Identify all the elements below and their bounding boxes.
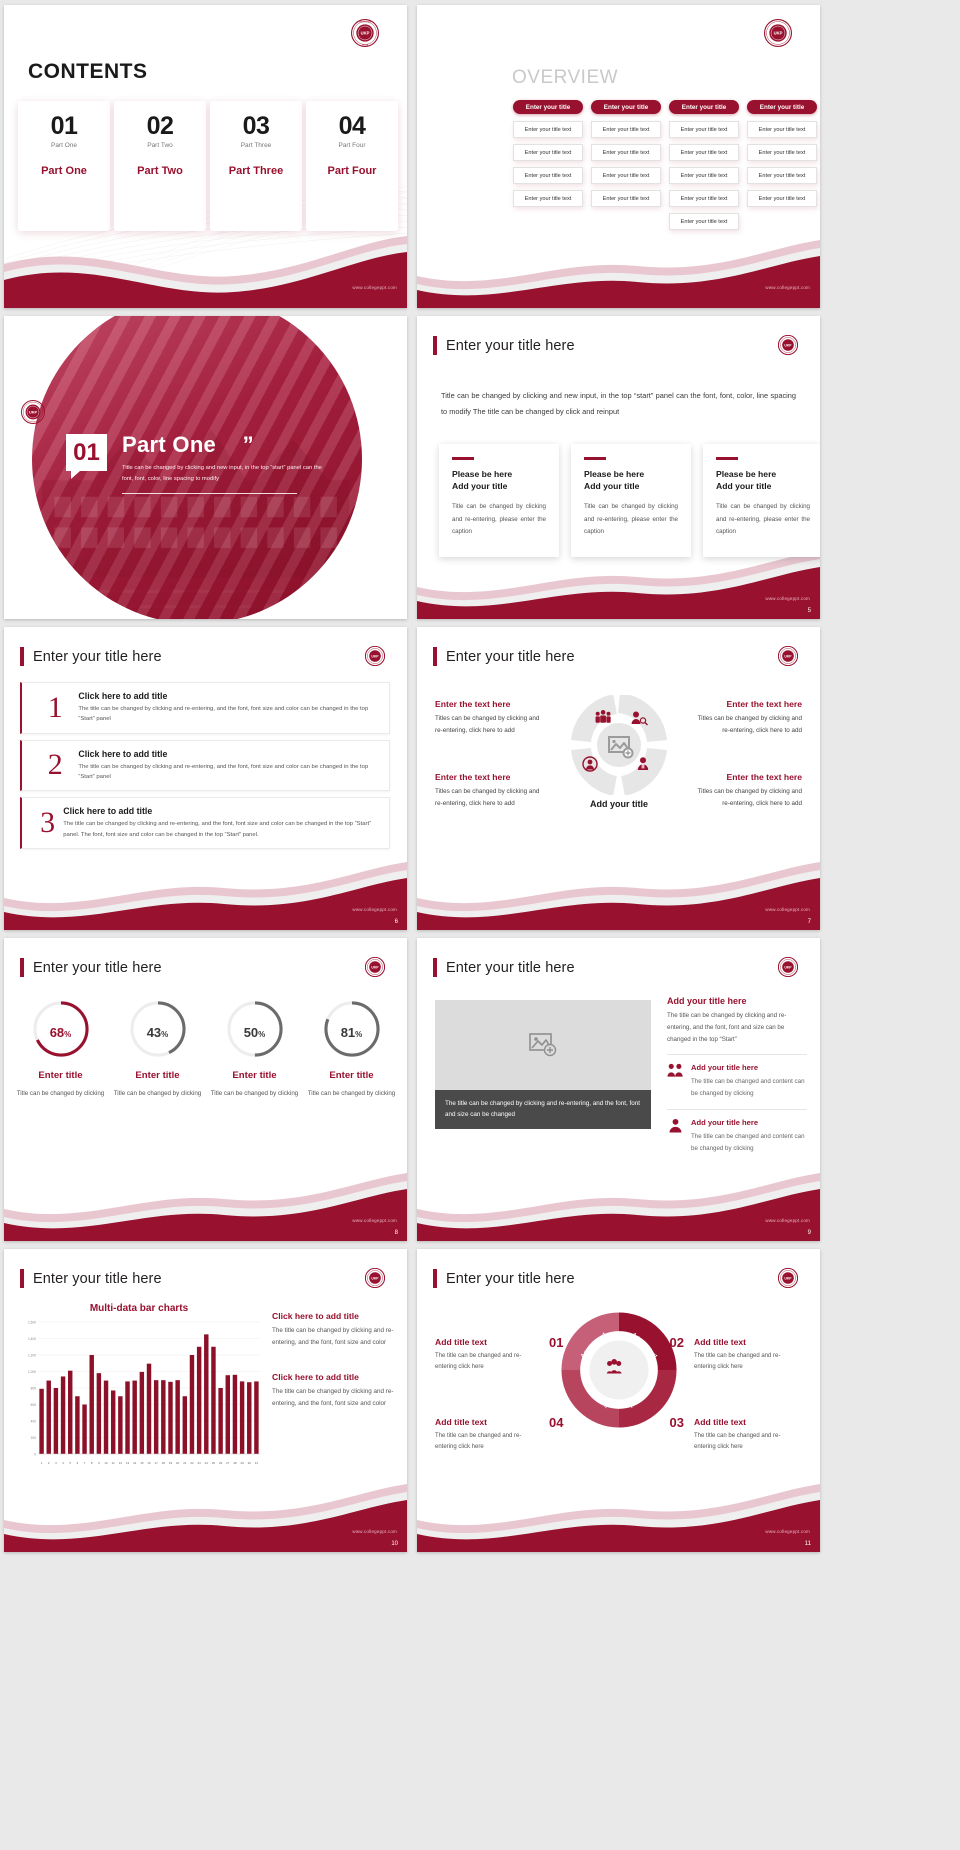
- gauge-desc: Title can be changed by clicking: [12, 1088, 109, 1099]
- card-title-line1: Please be here: [716, 468, 810, 480]
- overview-item[interactable]: Enter your title text: [513, 144, 583, 161]
- logo-seal-icon: UKP UNIVERSITAS PETRA: [351, 19, 379, 47]
- right-column: Add your title here The title can be cha…: [667, 996, 807, 1154]
- people-icon: [667, 1063, 684, 1100]
- svg-text:1,200: 1,200: [28, 1354, 36, 1358]
- text-block-2: Click here to add title The title can be…: [272, 1372, 398, 1411]
- slide-overview[interactable]: UKP OVERVIEW Enter your title Enter your…: [417, 5, 820, 308]
- slide-three-cards[interactable]: Enter your title here UKP Title can be c…: [417, 316, 820, 619]
- page-title: Enter your title here: [446, 960, 575, 976]
- section-number: 01: [66, 434, 107, 471]
- svg-text:UKP: UKP: [784, 343, 792, 347]
- svg-text:6: 6: [77, 1461, 79, 1465]
- gauge-unit: %: [161, 1030, 168, 1039]
- gauge-desc: Title can be changed by clicking: [109, 1088, 206, 1099]
- item-number: 1: [32, 693, 78, 723]
- card-title-line2: Add your title: [584, 480, 678, 492]
- bottom-wave-decoration: [417, 547, 820, 619]
- overview-item[interactable]: Enter your title text: [591, 190, 661, 207]
- svg-text:0: 0: [34, 1453, 36, 1457]
- lead-paragraph: Title can be changed by clicking and new…: [441, 388, 796, 420]
- contents-card[interactable]: 04 Part Four Part Four: [306, 101, 398, 231]
- item-title: Click here to add title: [78, 749, 379, 759]
- bar-chart-svg: 02004006008001,0001,2001,4001,6001234567…: [14, 1318, 264, 1468]
- cycle-body: The title can be changed and re-entering…: [694, 1431, 802, 1453]
- page-title: Enter your title here: [33, 960, 162, 976]
- slide-image-and-list[interactable]: Enter your title here UKP The title can …: [417, 938, 820, 1241]
- svg-text:UKP: UKP: [371, 965, 379, 969]
- contents-card[interactable]: 03 Part Three Part Three: [210, 101, 302, 231]
- page-title-bar: Enter your title here: [433, 647, 575, 666]
- svg-text:20: 20: [176, 1461, 180, 1465]
- info-card[interactable]: Please be here Add your title Title can …: [571, 444, 691, 557]
- page-number: 4: [395, 608, 398, 614]
- overview-item[interactable]: Enter your title text: [669, 121, 739, 138]
- page-title: Enter your title here: [33, 1271, 162, 1287]
- cycle-number-02: 02: [670, 1335, 684, 1350]
- page-number: 7: [808, 919, 811, 925]
- gauge-value: 50: [244, 1025, 258, 1040]
- contents-card[interactable]: 02 Part Two Part Two: [114, 101, 206, 231]
- item-body: The title can be changed by clicking and…: [78, 762, 379, 783]
- cycle-title: Add title text: [694, 1417, 802, 1427]
- card-number: 01: [18, 114, 110, 139]
- svg-text:UKP: UKP: [774, 30, 783, 35]
- overview-column: Enter your title Enter your title text E…: [591, 100, 661, 236]
- card-body: Title can be changed by clicking and re-…: [584, 501, 678, 537]
- quadrant-title: Enter the text here: [435, 772, 547, 782]
- card-dash: [584, 457, 606, 460]
- footer-url: www.collegeppt.com: [352, 285, 397, 290]
- card-subtitle: Part Four: [306, 142, 398, 149]
- quadrant-body: Titles can be changed by clicking and re…: [690, 713, 802, 736]
- page-number: 11: [805, 1541, 811, 1547]
- overview-column: Enter your title Enter your title text E…: [513, 100, 583, 236]
- title-accent: [20, 1269, 24, 1288]
- svg-text:18: 18: [162, 1461, 166, 1465]
- logo-seal-icon: UKP: [778, 335, 798, 355]
- info-card[interactable]: Please be here Add your title Title can …: [439, 444, 559, 557]
- card-title-line1: Please be here: [584, 468, 678, 480]
- title-accent: [433, 1269, 437, 1288]
- image-caption: The title can be changed by clicking and…: [435, 1090, 651, 1129]
- title-accent: [20, 647, 24, 666]
- svg-text:UKP: UKP: [784, 965, 792, 969]
- quadrant-title: Enter the text here: [690, 772, 802, 782]
- overview-item[interactable]: Enter your title text: [513, 167, 583, 184]
- footer-url: www.collegeppt.com: [765, 907, 810, 912]
- svg-text:1: 1: [41, 1461, 43, 1465]
- cycle-text-04: Add title text The title can be changed …: [435, 1417, 543, 1453]
- overview-column: Enter your title Enter your title text E…: [669, 100, 739, 236]
- footer-url: www.collegeppt.com: [352, 907, 397, 912]
- quadrant-title: Enter the text here: [435, 699, 547, 709]
- cycle-text-01: Add title text The title can be changed …: [435, 1337, 543, 1373]
- svg-text:27: 27: [226, 1461, 230, 1465]
- overview-item[interactable]: Enter your title text: [747, 190, 817, 207]
- svg-text:28: 28: [233, 1461, 237, 1465]
- page-number: 10: [391, 1541, 398, 1547]
- svg-text:25: 25: [212, 1461, 216, 1465]
- page-title-bar: Enter your title here: [20, 958, 162, 977]
- cycle-number-01: 01: [549, 1335, 563, 1350]
- gauge-item[interactable]: 81% Enter title Title can be changed by …: [303, 998, 400, 1099]
- logo-seal-icon: UKP: [778, 1268, 798, 1288]
- svg-text:5: 5: [69, 1461, 71, 1465]
- slide-numbered-list[interactable]: Enter your title here UKP 1 Click here t…: [4, 627, 407, 930]
- quote-mark-icon: ”: [243, 432, 254, 457]
- cycle-body: The title can be changed and re-entering…: [435, 1431, 543, 1453]
- info-card[interactable]: Please be here Add your title Title can …: [703, 444, 820, 557]
- svg-text:UKP: UKP: [371, 1276, 379, 1280]
- right-column: Click here to add title The title can be…: [272, 1311, 398, 1410]
- quadrant-text-bottom-right: Enter the text here Titles can be change…: [690, 772, 802, 809]
- cycle-number-03: 03: [670, 1415, 684, 1430]
- gauge-label: Enter title: [303, 1070, 400, 1081]
- column-pill[interactable]: Enter your title: [513, 100, 583, 114]
- footer-url: www.collegeppt.com: [352, 1529, 397, 1534]
- person-icon: [667, 1118, 684, 1155]
- svg-text:12: 12: [119, 1461, 123, 1465]
- svg-text:UKP: UKP: [361, 30, 370, 35]
- card-dash: [452, 457, 474, 460]
- svg-text:11: 11: [112, 1461, 115, 1465]
- overview-item[interactable]: Enter your title text: [669, 144, 739, 161]
- card-body: Title can be changed by clicking and re-…: [452, 501, 546, 537]
- quadrant-body: Titles can be changed by clicking and re…: [690, 786, 802, 809]
- footer-url: www.collegeppt.com: [765, 596, 810, 601]
- overview-item[interactable]: Enter your title text: [591, 144, 661, 161]
- gauge-value: 43: [147, 1025, 161, 1040]
- chart-container[interactable]: Multi-data bar charts 02004006008001,000…: [14, 1303, 264, 1478]
- gauge-item[interactable]: 43% Enter title Title can be changed by …: [109, 998, 206, 1099]
- item-title: Click here to add title: [63, 806, 379, 816]
- svg-text:7: 7: [84, 1461, 86, 1465]
- overview-item[interactable]: Enter your title text: [513, 190, 583, 207]
- section-body: Title can be changed by clicking and new…: [122, 463, 322, 484]
- item-title: Add your title here: [691, 1063, 807, 1072]
- quadrant-body: Titles can be changed by clicking and re…: [435, 786, 547, 809]
- page-title: CONTENTS: [28, 60, 148, 84]
- gauge-unit: %: [258, 1030, 265, 1039]
- bottom-wave-decoration: [4, 1169, 407, 1241]
- block-title: Click here to add title: [272, 1311, 398, 1321]
- svg-text:9: 9: [98, 1461, 100, 1465]
- svg-text:4: 4: [62, 1461, 64, 1465]
- svg-text:14: 14: [133, 1461, 137, 1465]
- section-number-badge: 01: [66, 434, 107, 471]
- column-pill[interactable]: Enter your title: [591, 100, 661, 114]
- svg-text:600: 600: [31, 1403, 37, 1407]
- footer-url: www.collegeppt.com: [765, 1218, 810, 1223]
- bottom-wave-decoration: [417, 1480, 820, 1552]
- column-pill[interactable]: Enter your title: [747, 100, 817, 114]
- svg-text:UKP: UKP: [371, 654, 379, 658]
- svg-text:30: 30: [248, 1461, 252, 1465]
- page-number: 8: [395, 1230, 398, 1236]
- section-body: The title can be changed by clicking and…: [667, 1010, 807, 1045]
- segmented-donut[interactable]: [569, 695, 669, 795]
- cycle-title: Add title text: [435, 1337, 543, 1347]
- chart-title: Multi-data bar charts: [14, 1303, 264, 1314]
- list-item[interactable]: 2 Click here to add title The title can …: [20, 740, 390, 792]
- numbered-list: 1 Click here to add title The title can …: [20, 682, 390, 855]
- item-number: 2: [32, 750, 78, 780]
- page-number: 6: [395, 919, 398, 925]
- card-subtitle: Part Three: [210, 142, 302, 149]
- slide-contents[interactable]: UKP UNIVERSITAS PETRA CONTENTS 01 Part O…: [4, 5, 407, 308]
- title-accent: [433, 958, 437, 977]
- list-item[interactable]: Add your title here The title can be cha…: [667, 1109, 807, 1155]
- page-number: 9: [808, 1230, 811, 1236]
- svg-text:1,400: 1,400: [28, 1337, 36, 1341]
- card-title-line2: Add your title: [452, 480, 546, 492]
- cycle-text-02: Add title text The title can be changed …: [694, 1337, 802, 1373]
- item-body: The title can be changed by clicking and…: [63, 819, 379, 840]
- overview-item[interactable]: Enter your title text: [747, 167, 817, 184]
- card-list: Please be here Add your title Title can …: [439, 444, 820, 557]
- cycle-body: The title can be changed and re-entering…: [694, 1351, 802, 1373]
- card-title-line2: Add your title: [716, 480, 810, 492]
- overview-item[interactable]: Enter your title text: [747, 144, 817, 161]
- quadrant-body: Titles can be changed by clicking and re…: [435, 713, 547, 736]
- page-title-bar: Enter your title here: [20, 647, 162, 666]
- svg-text:800: 800: [31, 1387, 37, 1391]
- logo-seal-icon: UKP: [365, 1268, 385, 1288]
- cycle-ring[interactable]: Add title text Add title text Add title …: [560, 1311, 678, 1429]
- slide-part-one-cover[interactable]: UKP 01 Part One ” Title can be changed b…: [4, 316, 407, 619]
- cycle-title: Add title text: [435, 1417, 543, 1427]
- svg-text:26: 26: [219, 1461, 223, 1465]
- svg-text:23: 23: [198, 1461, 202, 1465]
- svg-text:1,600: 1,600: [28, 1321, 36, 1325]
- image-placeholder-icon: [528, 1032, 558, 1058]
- slide-cycle[interactable]: Enter your title here UKP Add title text…: [417, 1249, 820, 1552]
- logo-seal-icon: UKP: [365, 957, 385, 977]
- bottom-wave-decoration: [417, 1169, 820, 1241]
- card-number: 03: [210, 114, 302, 139]
- item-title: Click here to add title: [78, 691, 379, 701]
- svg-text:31: 31: [255, 1461, 259, 1465]
- list-item[interactable]: Add your title here The title can be cha…: [667, 1054, 807, 1100]
- page-title: OVERVIEW: [512, 67, 618, 89]
- gauge-item[interactable]: 68% Enter title Title can be changed by …: [12, 998, 109, 1099]
- svg-text:2: 2: [48, 1461, 50, 1465]
- page-title: Enter your title here: [446, 649, 575, 665]
- cycle-number-04: 04: [549, 1415, 563, 1430]
- block-title: Click here to add title: [272, 1372, 398, 1382]
- gauge-label: Enter title: [109, 1070, 206, 1081]
- image-placeholder[interactable]: [435, 1000, 651, 1090]
- card-number: 04: [306, 114, 398, 139]
- gauge-value: 68: [50, 1025, 64, 1040]
- svg-text:29: 29: [240, 1461, 244, 1465]
- footer-url: www.collegeppt.com: [765, 285, 810, 290]
- item-body: The title can be changed by clicking and…: [78, 704, 379, 725]
- overview-item[interactable]: Enter your title text: [747, 121, 817, 138]
- overview-item[interactable]: Enter your title text: [591, 167, 661, 184]
- title-accent: [20, 958, 24, 977]
- overview-item[interactable]: Enter your title text: [669, 213, 739, 230]
- logo-seal-icon: UKP: [778, 957, 798, 977]
- svg-text:8: 8: [91, 1461, 93, 1465]
- card-dash: [716, 457, 738, 460]
- gauge-value: 81: [341, 1025, 355, 1040]
- gauge-label: Enter title: [206, 1070, 303, 1081]
- title-accent: [433, 647, 437, 666]
- card-label: Part Two: [114, 165, 206, 177]
- gauge-desc: Title can be changed by clicking: [206, 1088, 303, 1099]
- svg-text:13: 13: [126, 1461, 130, 1465]
- page-title-bar: Enter your title here: [20, 1269, 162, 1288]
- item-body: The title can be changed and content can…: [691, 1076, 807, 1100]
- page-title: Enter your title here: [446, 1271, 575, 1287]
- title-accent: [433, 336, 437, 355]
- svg-text:UKP: UKP: [784, 1276, 792, 1280]
- quadrant-text-bottom-left: Enter the text here Titles can be change…: [435, 772, 547, 809]
- svg-text:UKP: UKP: [784, 654, 792, 658]
- list-item[interactable]: 1 Click here to add title The title can …: [20, 682, 390, 734]
- overview-column: Enter your title Enter your title text E…: [747, 100, 817, 236]
- svg-text:16: 16: [147, 1461, 151, 1465]
- item-body: The title can be changed and content can…: [691, 1131, 807, 1155]
- block-body: The title can be changed by clicking and…: [272, 1325, 398, 1350]
- gauge-desc: Title can be changed by clicking: [303, 1088, 400, 1099]
- logo-seal-icon: UKP: [365, 646, 385, 666]
- slide-grid: UKP UNIVERSITAS PETRA CONTENTS 01 Part O…: [0, 0, 960, 1557]
- column-pill[interactable]: Enter your title: [669, 100, 739, 114]
- svg-text:19: 19: [169, 1461, 173, 1465]
- card-subtitle: Part Two: [114, 142, 206, 149]
- overview-columns: Enter your title Enter your title text E…: [513, 100, 817, 236]
- gauge-label: Enter title: [12, 1070, 109, 1081]
- contents-card[interactable]: 01 Part One Part One: [18, 101, 110, 231]
- card-body: Title can be changed by clicking and re-…: [716, 501, 810, 537]
- footer-url: www.collegeppt.com: [352, 1218, 397, 1223]
- svg-text:24: 24: [205, 1461, 209, 1465]
- block-body: The title can be changed by clicking and…: [272, 1386, 398, 1411]
- gauge-unit: %: [355, 1030, 362, 1039]
- logo-seal-icon: UKP: [21, 400, 45, 424]
- card-title-line1: Please be here: [452, 468, 546, 480]
- text-block-1: Click here to add title The title can be…: [272, 1311, 398, 1350]
- bottom-wave-decoration: [417, 858, 820, 930]
- logo-seal-icon: UKP: [778, 646, 798, 666]
- svg-text:15: 15: [140, 1461, 144, 1465]
- overview-item[interactable]: Enter your title text: [669, 167, 739, 184]
- cover-text-block: Part One ” Title can be changed by click…: [122, 432, 322, 494]
- list-item[interactable]: 3 Click here to add title The title can …: [20, 797, 390, 849]
- bottom-wave-decoration: [4, 858, 407, 930]
- logo-seal-icon: UKP: [764, 19, 792, 47]
- page-title-bar: Enter your title here: [433, 958, 575, 977]
- cycle-body: The title can be changed and re-entering…: [435, 1351, 543, 1373]
- bottom-wave-decoration: [4, 1480, 407, 1552]
- bottom-wave-decoration: [417, 236, 820, 308]
- quadrant-title: Enter the text here: [690, 699, 802, 709]
- page-title: Enter your title here: [446, 338, 575, 354]
- center-label: Add your title: [569, 799, 669, 809]
- svg-text:17: 17: [155, 1461, 159, 1465]
- card-number: 02: [114, 114, 206, 139]
- section-heading: Part One: [122, 432, 216, 458]
- card-subtitle: Part One: [18, 142, 110, 149]
- svg-text:10: 10: [104, 1461, 108, 1465]
- bottom-wave-decoration: [4, 236, 407, 308]
- svg-text:UKP: UKP: [29, 410, 38, 414]
- contents-card-list: 01 Part One Part One 02 Part Two Part Tw…: [18, 101, 398, 231]
- svg-text:21: 21: [183, 1461, 187, 1465]
- svg-text:22: 22: [190, 1461, 194, 1465]
- page-number: 5: [808, 608, 811, 614]
- overview-item[interactable]: Enter your title text: [513, 121, 583, 138]
- page-title-bar: Enter your title here: [433, 336, 575, 355]
- page-title-bar: Enter your title here: [433, 1269, 575, 1288]
- quadrant-text-top-left: Enter the text here Titles can be change…: [435, 699, 547, 736]
- gauge-unit: %: [64, 1030, 71, 1039]
- overview-item[interactable]: Enter your title text: [591, 121, 661, 138]
- cycle-text-03: Add title text The title can be changed …: [694, 1417, 802, 1453]
- svg-text:400: 400: [31, 1420, 37, 1424]
- item-number: 3: [32, 808, 63, 838]
- section-title: Add your title here: [667, 996, 807, 1006]
- slide-circular-infographic[interactable]: Enter your title here UKP Enter the text…: [417, 627, 820, 930]
- card-label: Part Four: [306, 165, 398, 177]
- page-title: Enter your title here: [33, 649, 162, 665]
- gauge-item[interactable]: 50% Enter title Title can be changed by …: [206, 998, 303, 1099]
- svg-text:1,000: 1,000: [28, 1370, 36, 1374]
- footer-url: www.collegeppt.com: [765, 1529, 810, 1534]
- slide-gauges[interactable]: Enter your title here UKP 68% Enter titl…: [4, 938, 407, 1241]
- card-label: Part One: [18, 165, 110, 177]
- item-title: Add your title here: [691, 1118, 807, 1127]
- overview-item[interactable]: Enter your title text: [669, 190, 739, 207]
- gauge-list: 68% Enter title Title can be changed by …: [12, 998, 400, 1099]
- divider: [122, 493, 297, 494]
- quadrant-text-top-right: Enter the text here Titles can be change…: [690, 699, 802, 736]
- svg-text:3: 3: [55, 1461, 57, 1465]
- cycle-title: Add title text: [694, 1337, 802, 1347]
- slide-bar-chart[interactable]: Enter your title here UKP Multi-data bar…: [4, 1249, 407, 1552]
- svg-text:200: 200: [31, 1436, 37, 1440]
- card-label: Part Three: [210, 165, 302, 177]
